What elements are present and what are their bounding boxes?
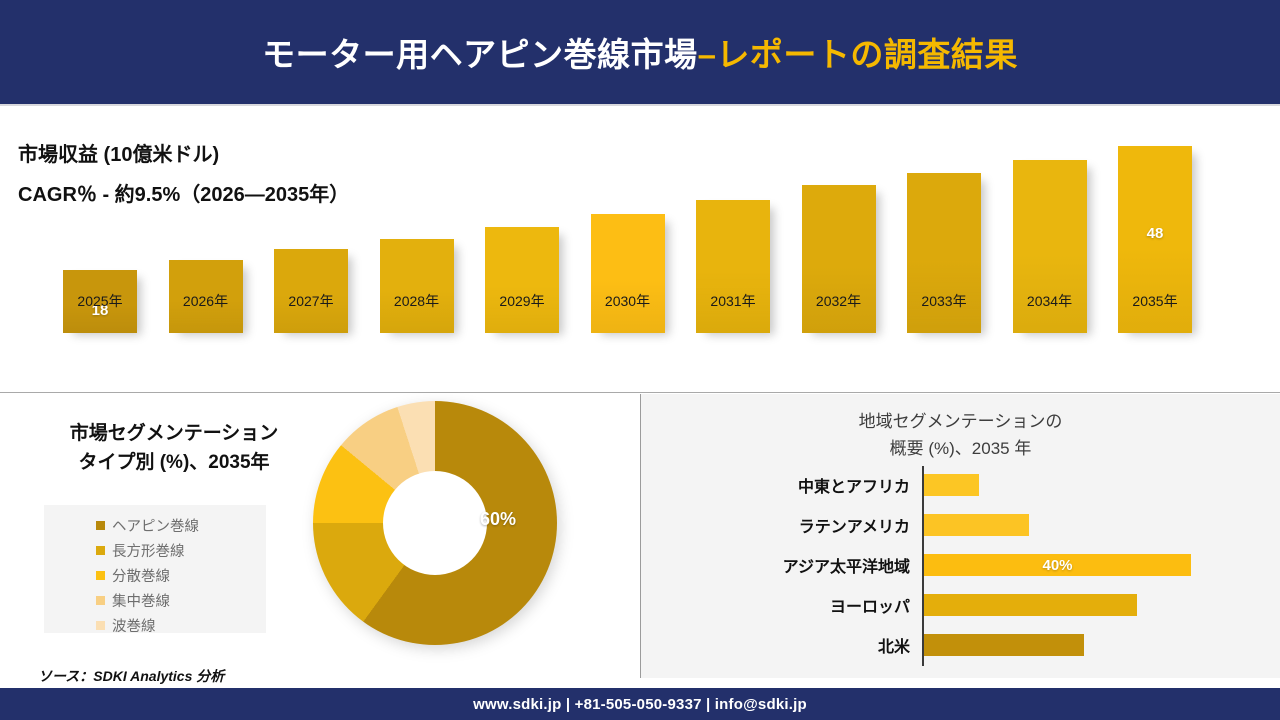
revenue-bar [591,214,665,333]
revenue-bar-year-label: 2026年 [151,291,261,311]
revenue-bar-column: 2026年 [169,260,243,333]
revenue-bar-year-label: 2025年 [45,291,155,311]
legend-item-label: 集中巻線 [112,590,170,611]
revenue-bar-year-label: 2032年 [784,291,894,311]
revenue-bar-column: 2034年 [1013,160,1087,333]
region-bars-area: 中東とアフリカラテンアメリカアジア太平洋地域40%ヨーロッパ北米 [641,466,1280,670]
type-segmentation-legend: ヘアピン巻線長方形巻線分散巻線集中巻線波巻線 [44,505,266,633]
revenue-bar [485,227,559,333]
revenue-bar-year-label: 2027年 [256,291,366,311]
region-row: ラテンアメリカ [641,506,1280,544]
legend-item: 集中巻線 [96,588,266,613]
revenue-bar-column: 2032年 [802,185,876,333]
revenue-bar-year-label: 2028年 [362,291,472,311]
footer-band: www.sdki.jp | +81-505-050-9337 | info@sd… [0,688,1280,720]
revenue-bar-column: 182025年 [63,270,137,333]
page-title-accent: –レポートの調査結果 [698,36,1018,73]
header-band: モーター用ヘアピン巻線市場–レポートの調査結果 [0,0,1280,104]
revenue-bar-column: 2028年 [380,239,454,333]
legend-swatch-icon [96,546,105,555]
type-segmentation-title-line2: タイプ別 (%)、2035年 [34,448,314,477]
legend-swatch-icon [96,621,105,630]
region-row: ヨーロッパ [641,586,1280,624]
revenue-bar-column: 2027年 [274,249,348,333]
region-bar-value: 40% [1042,557,1072,574]
legend-item-label: 分散巻線 [112,565,170,586]
region-bar: 40% [924,554,1191,576]
type-segmentation-title-line1: 市場セグメンテーション [34,419,314,448]
revenue-bar-year-label: 2034年 [995,291,1105,311]
revenue-bar-column: 2030年 [591,214,665,333]
revenue-bar [696,200,770,333]
legend-swatch-icon [96,521,105,530]
revenue-bar-value: 48 [1147,225,1164,242]
legend-item-label: 波巻線 [112,615,156,636]
region-bar [924,474,979,496]
region-segmentation-title-line1: 地域セグメンテーションの [641,408,1280,435]
legend-swatch-icon [96,596,105,605]
region-label: 中東とアフリカ [641,473,910,497]
type-segmentation-title: 市場セグメンテーション タイプ別 (%)、2035年 [34,419,314,478]
page-title-main: モーター用ヘアピン巻線市場 [262,36,698,73]
region-bar [924,594,1137,616]
region-row: 中東とアフリカ [641,466,1280,504]
revenue-bar-year-label: 2033年 [889,291,999,311]
revenue-bar-year-label: 2031年 [678,291,788,311]
legend-item: 波巻線 [96,613,266,638]
legend-item: 長方形巻線 [96,538,266,563]
region-label: ヨーロッパ [641,593,910,617]
region-label: アジア太平洋地域 [641,553,910,577]
region-bar [924,634,1084,656]
revenue-bar-year-label: 2030年 [573,291,683,311]
legend-item-label: 長方形巻線 [112,540,185,561]
revenue-bars-area: 182025年2026年2027年2028年2029年2030年2031年203… [0,106,1280,392]
legend-item: ヘアピン巻線 [96,513,266,538]
type-segmentation-panel: 市場セグメンテーション タイプ別 (%)、2035年 ヘアピン巻線長方形巻線分散… [0,393,640,678]
region-bar [924,514,1029,536]
source-note: ソース：SDKI Analytics 分析 [38,666,224,686]
revenue-bar-chart-panel: 市場収益 (10億米ドル) CAGR％ - 約9.5%（2026―2035年） … [0,106,1280,392]
region-label: ラテンアメリカ [641,513,910,537]
legend-item: 分散巻線 [96,563,266,588]
infographic-page: モーター用ヘアピン巻線市場–レポートの調査結果 市場収益 (10億米ドル) CA… [0,0,1280,720]
donut-hole [383,471,487,575]
region-segmentation-title-line2: 概要 (%)、2035 年 [641,435,1280,462]
revenue-bar-column: 482035年 [1118,146,1192,333]
legend-item-label: ヘアピン巻線 [112,515,199,536]
revenue-bar-column: 2031年 [696,200,770,333]
donut-primary-value: 60% [480,509,516,530]
footer-contact: www.sdki.jp | +81-505-050-9337 | info@sd… [473,696,807,713]
page-title: モーター用ヘアピン巻線市場–レポートの調査結果 [262,28,1018,76]
revenue-bar-year-label: 2035年 [1100,291,1210,311]
region-label: 北米 [641,633,910,657]
region-row: アジア太平洋地域40% [641,546,1280,584]
revenue-bar-column: 2029年 [485,227,559,333]
donut-chart: 60% [313,401,557,645]
region-row: 北米 [641,626,1280,664]
revenue-bar-column: 2033年 [907,173,981,333]
revenue-bar-year-label: 2029年 [467,291,577,311]
region-segmentation-title: 地域セグメンテーションの 概要 (%)、2035 年 [641,408,1280,462]
revenue-bar [380,239,454,333]
region-segmentation-panel: 地域セグメンテーションの 概要 (%)、2035 年 中東とアフリカラテンアメリ… [641,394,1280,678]
legend-swatch-icon [96,571,105,580]
